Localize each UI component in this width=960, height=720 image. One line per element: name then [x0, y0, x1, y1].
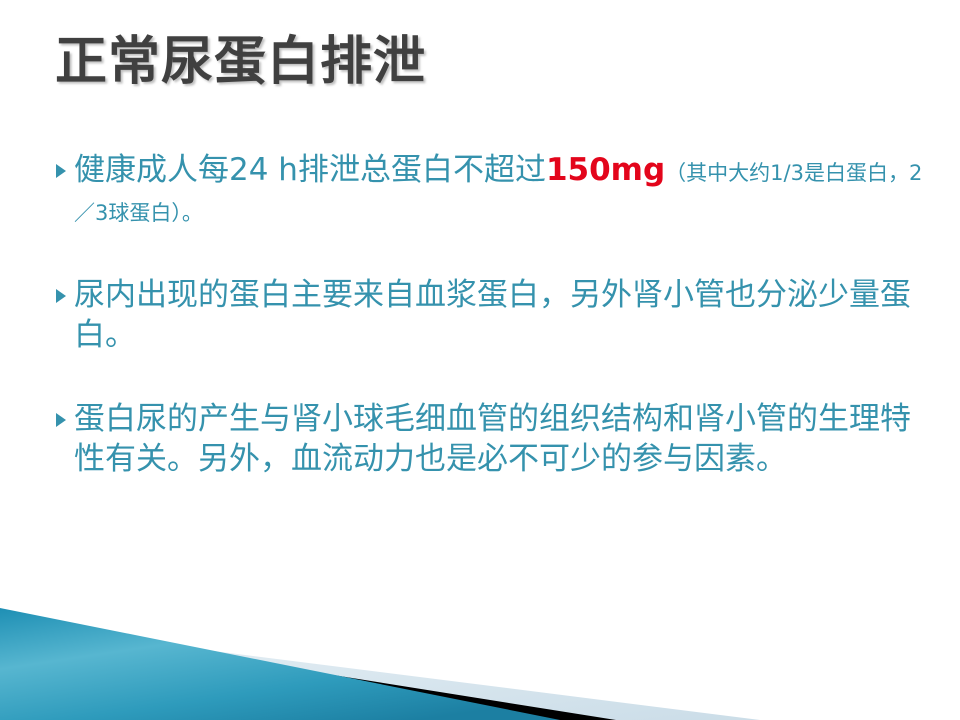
list-item: 蛋白尿的产生与肾小球毛细血管的组织结构和肾小管的生理特性有关。另外，血流动力也是… — [48, 399, 928, 480]
list-item: 健康成人每24 h排泄总蛋白不超过150mg（其中大约1/3是白蛋白，2／3球蛋… — [48, 150, 928, 231]
bullet-marker — [48, 399, 74, 427]
list-item-text: 尿内出现的蛋白主要来自血浆蛋白，另外肾小管也分泌少量蛋白。 — [74, 275, 928, 356]
bullet-marker — [48, 275, 74, 303]
triangle-bullet-icon — [56, 289, 66, 303]
slide-canvas: 正常尿蛋白排泄 健康成人每24 h排泄总蛋白不超过150mg（其中大约1/3是白… — [0, 0, 960, 720]
triangle-bullet-icon — [56, 413, 66, 427]
bullet-1-highlight: 150mg — [546, 152, 665, 188]
deco-band-black — [0, 622, 616, 720]
bullet-2-segment-1: 尿内出现的蛋白主要来自血浆蛋白，另外肾小管也分泌少量蛋白。 — [74, 277, 911, 353]
deco-band-pale — [0, 624, 760, 720]
list-item: 尿内出现的蛋白主要来自血浆蛋白，另外肾小管也分泌少量蛋白。 — [48, 275, 928, 356]
corner-diagonal-bands-decoration — [0, 580, 960, 720]
content-body: 健康成人每24 h排泄总蛋白不超过150mg（其中大约1/3是白蛋白，2／3球蛋… — [48, 150, 928, 506]
title-area: 正常尿蛋白排泄 — [55, 34, 915, 120]
deco-band-teal — [0, 608, 560, 720]
list-item-text: 蛋白尿的产生与肾小球毛细血管的组织结构和肾小管的生理特性有关。另外，血流动力也是… — [74, 399, 928, 480]
page-title: 正常尿蛋白排泄 — [55, 34, 915, 90]
triangle-bullet-icon — [56, 164, 66, 178]
list-item-text: 健康成人每24 h排泄总蛋白不超过150mg（其中大约1/3是白蛋白，2／3球蛋… — [74, 150, 928, 231]
bullet-3-segment-1: 蛋白尿的产生与肾小球毛细血管的组织结构和肾小管的生理特性有关。另外，血流动力也是… — [74, 401, 911, 477]
bullet-marker — [48, 150, 74, 178]
bullet-1-segment-1: 健康成人每24 h排泄总蛋白不超过 — [74, 152, 546, 188]
